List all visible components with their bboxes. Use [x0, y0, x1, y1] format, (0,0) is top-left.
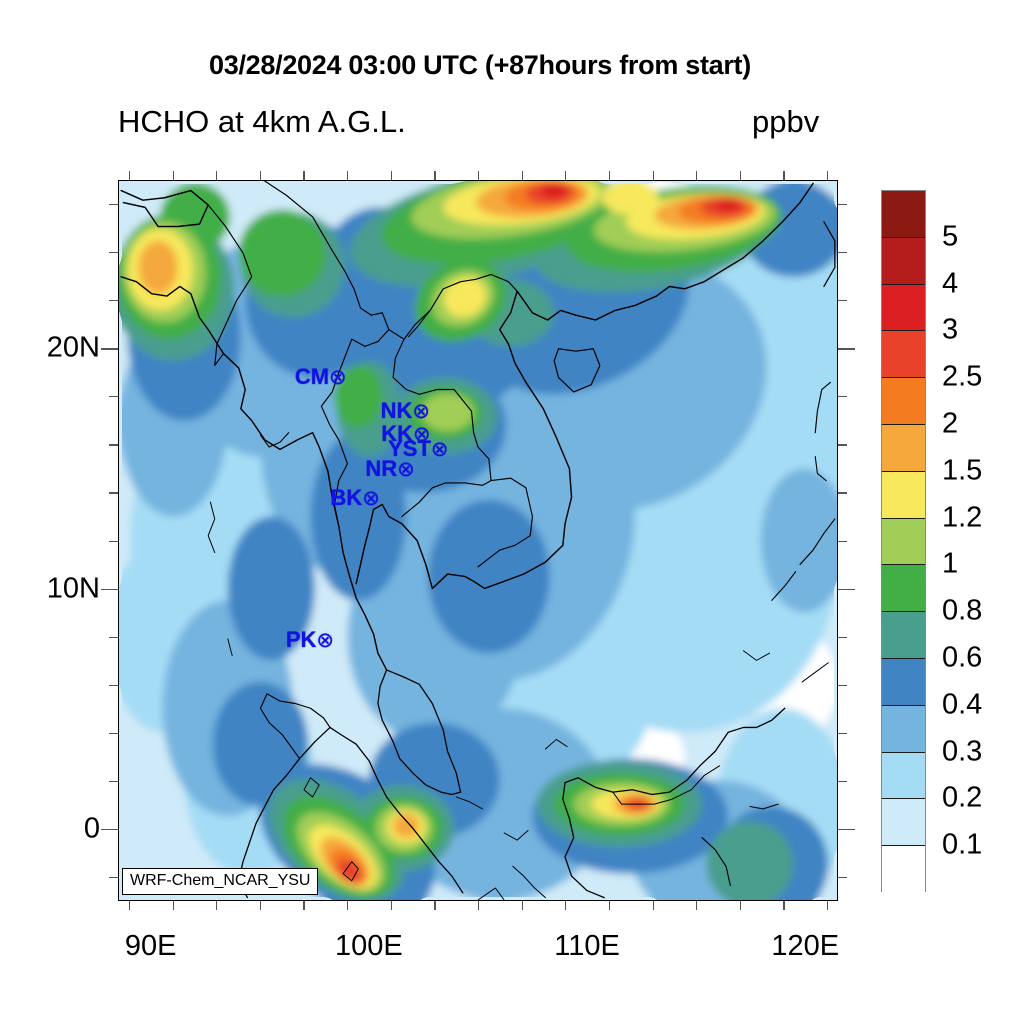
colorbar-tick-label: 5	[942, 220, 958, 253]
x-tick-top-minor	[565, 171, 566, 180]
colorbar-swatch	[882, 799, 925, 846]
x-tick-top-minor	[653, 171, 654, 180]
x-tick-top-minor	[522, 171, 523, 180]
station-circle-cross-icon: ⊗	[397, 458, 415, 481]
y-tick-major	[101, 589, 118, 591]
colorbar-swatch	[882, 565, 925, 612]
colorbar-swatch	[882, 285, 925, 332]
x-tick-top-minor	[260, 171, 261, 180]
colorbar-tick-label: 2.5	[942, 361, 982, 394]
x-tick-top-minor	[783, 171, 784, 180]
y-tick-minor	[109, 444, 118, 445]
station-marker-cm[interactable]: CM⊗	[295, 366, 347, 388]
y-tick-right-minor	[838, 781, 847, 782]
x-tick-minor	[347, 901, 348, 910]
x-tick-minor	[565, 901, 566, 910]
y-tick-right-major	[838, 829, 855, 831]
colorbar-tick-label: 0.3	[942, 735, 982, 768]
y-tick-major	[101, 348, 118, 350]
units-label: ppbv	[752, 104, 819, 140]
x-tick-minor	[609, 901, 610, 910]
colorbar	[881, 190, 926, 892]
x-tick-top-minor	[173, 171, 174, 180]
y-tick-minor	[109, 204, 118, 205]
x-tick-minor	[260, 901, 261, 910]
station-marker-nk[interactable]: NK⊗	[381, 400, 430, 422]
hcho-forecast-figure: 03/28/2024 03:00 UTC (+87hours from star…	[0, 0, 1024, 1024]
colorbar-swatch	[882, 191, 925, 238]
station-circle-cross-icon: ⊗	[362, 487, 380, 510]
map-plot-area	[118, 180, 838, 901]
y-axis-label: 0	[84, 812, 100, 845]
y-tick-right-minor	[838, 204, 847, 205]
y-tick-right-minor	[838, 252, 847, 253]
field-band-1.5-2	[393, 814, 419, 838]
y-tick-minor	[109, 396, 118, 397]
x-tick-top-minor	[391, 171, 392, 180]
y-tick-right-minor	[838, 444, 847, 445]
colorbar-swatch	[882, 612, 925, 659]
field-band-3-4	[541, 183, 567, 197]
y-tick-right-minor	[838, 492, 847, 493]
colorbar-tick-label: 0.8	[942, 595, 982, 628]
hcho-contour-field	[119, 181, 837, 900]
colorbar-tick-label: 0.1	[942, 829, 982, 862]
colorbar-tick-label: 3	[942, 314, 958, 347]
y-tick-right-minor	[838, 733, 847, 734]
colorbar-tick-label: 0.6	[942, 642, 982, 675]
x-tick-minor	[478, 901, 479, 910]
station-circle-cross-icon: ⊗	[316, 629, 334, 652]
y-tick-minor	[109, 685, 118, 686]
x-tick-minor	[303, 901, 304, 910]
colorbar-tick-label: 1.5	[942, 454, 982, 487]
y-axis-label: 20N	[47, 332, 100, 365]
y-tick-right-minor	[838, 396, 847, 397]
x-tick-top-minor	[609, 171, 610, 180]
station-label: NK	[381, 398, 413, 423]
x-tick-minor	[740, 901, 741, 910]
field-band-0.8-1	[239, 210, 326, 296]
station-label: PK	[286, 627, 317, 652]
colorbar-swatch	[882, 238, 925, 285]
x-axis-label: 120E	[771, 930, 839, 963]
x-tick-minor	[827, 901, 828, 910]
y-tick-minor	[109, 252, 118, 253]
y-tick-right-major	[838, 589, 855, 591]
station-marker-bk[interactable]: BK⊗	[330, 487, 379, 509]
colorbar-swatch	[882, 472, 925, 519]
page-title: 03/28/2024 03:00 UTC (+87hours from star…	[0, 50, 960, 81]
y-tick-minor	[109, 492, 118, 493]
y-axis-label: 10N	[47, 572, 100, 605]
colorbar-swatch	[882, 378, 925, 425]
x-tick-minor	[653, 901, 654, 910]
y-tick-right-minor	[838, 541, 847, 542]
x-tick-minor	[129, 901, 130, 910]
colorbar-swatch	[882, 331, 925, 378]
colorbar-tick-label: 2	[942, 408, 958, 441]
field-band-3-4	[715, 198, 741, 211]
y-tick-major	[101, 829, 118, 831]
x-axis-label: 90E	[125, 930, 177, 963]
y-tick-minor	[109, 877, 118, 878]
y-tick-minor	[109, 300, 118, 301]
x-tick-minor	[434, 901, 435, 910]
colorbar-swatch	[882, 425, 925, 472]
colorbar-tick-label: 1.2	[942, 501, 982, 534]
colorbar-tick-label: 4	[942, 267, 958, 300]
x-axis-label: 100E	[335, 930, 403, 963]
x-tick-minor	[173, 901, 174, 910]
x-tick-top-minor	[303, 171, 304, 180]
model-watermark: WRF-Chem_NCAR_YSU	[122, 868, 318, 895]
colorbar-swatch	[882, 659, 925, 706]
y-tick-right-minor	[838, 685, 847, 686]
x-tick-top-minor	[740, 171, 741, 180]
station-label: NR	[365, 456, 397, 481]
field-band-1.2-1.5	[602, 181, 659, 215]
field-band-1.5-2	[139, 241, 178, 294]
x-tick-minor	[216, 901, 217, 910]
x-tick-top-minor	[347, 171, 348, 180]
x-tick-minor	[783, 901, 784, 910]
x-tick-minor	[391, 901, 392, 910]
x-tick-top-minor	[129, 171, 130, 180]
colorbar-swatch	[882, 846, 925, 893]
y-tick-minor	[109, 781, 118, 782]
station-circle-cross-icon: ⊗	[412, 400, 430, 423]
x-tick-top-minor	[478, 171, 479, 180]
station-label: CM	[295, 364, 329, 389]
field-subtitle: HCHO at 4km A.G.L.	[118, 104, 406, 140]
colorbar-swatch	[882, 519, 925, 566]
x-tick-top-minor	[434, 171, 435, 180]
y-tick-minor	[109, 637, 118, 638]
x-tick-minor	[522, 901, 523, 910]
y-tick-right-major	[838, 348, 855, 350]
y-tick-right-minor	[838, 637, 847, 638]
y-tick-right-minor	[838, 877, 847, 878]
colorbar-swatch	[882, 753, 925, 800]
y-tick-minor	[109, 541, 118, 542]
colorbar-tick-label: 1	[942, 548, 958, 581]
colorbar-tick-label: 0.2	[942, 782, 982, 815]
x-tick-top-minor	[216, 171, 217, 180]
colorbar-swatch	[882, 706, 925, 753]
station-marker-nr[interactable]: NR⊗	[365, 458, 414, 480]
station-circle-cross-icon: ⊗	[431, 438, 449, 461]
y-tick-right-minor	[838, 300, 847, 301]
x-tick-top-minor	[696, 171, 697, 180]
x-tick-top-minor	[827, 171, 828, 180]
x-axis-label: 110E	[554, 930, 620, 963]
x-tick-minor	[696, 901, 697, 910]
station-marker-pk[interactable]: PK⊗	[286, 629, 334, 651]
colorbar-tick-label: 0.4	[942, 688, 982, 721]
station-label: BK	[330, 485, 362, 510]
station-circle-cross-icon: ⊗	[329, 366, 347, 389]
y-tick-minor	[109, 733, 118, 734]
